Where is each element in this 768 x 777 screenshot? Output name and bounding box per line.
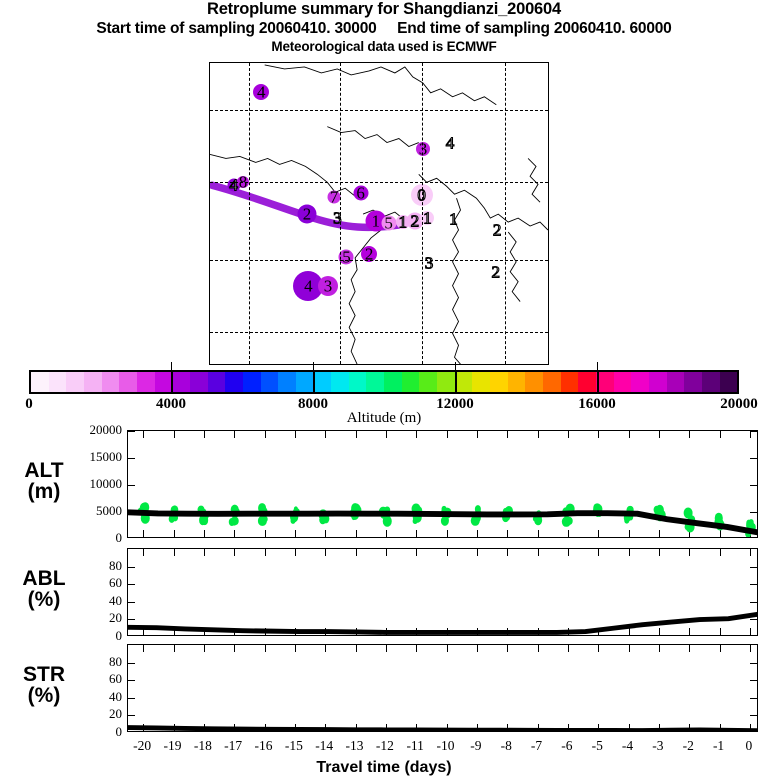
met-data-line: Meteorological data used is ECMWF: [0, 38, 768, 55]
colorbar-band: [119, 372, 137, 392]
panel-alt[interactable]: [127, 430, 758, 538]
colorbar-band: [667, 372, 685, 392]
xaxis-tick-label: -19: [164, 738, 182, 754]
panel-ylabel: 40: [109, 689, 122, 705]
xaxis-tick-label: -6: [561, 738, 572, 754]
xaxis-tick-label: -2: [683, 738, 694, 754]
sampling-time-line: Start time of sampling 20060410. 30000 E…: [0, 19, 768, 38]
panel-plot-area: [128, 645, 757, 731]
colorbar-band: [314, 372, 332, 392]
colorbar-band: [137, 372, 155, 392]
colorbar-band: [631, 372, 649, 392]
map-marker-label: 2: [411, 213, 420, 230]
xaxis-tick-label: -18: [194, 738, 212, 754]
colorbar-band: [720, 372, 738, 392]
map-marker-label: 5: [384, 215, 393, 232]
altitude-colorbar[interactable]: [29, 370, 739, 394]
xaxis-tick-label: -3: [652, 738, 663, 754]
colorbar-tick: [597, 362, 598, 370]
map-marker-label: 4: [446, 135, 455, 152]
xaxis-tick-label: -7: [531, 738, 542, 754]
colorbar-gradient: [29, 370, 739, 394]
panel-ylabel: 10000: [90, 476, 123, 492]
xaxis-tick-label: -5: [592, 738, 603, 754]
map-gridline-lat-3: [210, 332, 548, 333]
map-marker-label: 1: [423, 210, 432, 227]
colorbar-band: [278, 372, 296, 392]
colorbar-divider: [171, 370, 173, 394]
panel-ylabel: 80: [109, 558, 122, 574]
colorbar-band: [508, 372, 526, 392]
map-marker-label: 4: [304, 277, 313, 294]
colorbar-band: [84, 372, 102, 392]
panel-ylabel: 0: [116, 628, 123, 644]
xaxis-title: Travel time (days): [0, 759, 768, 777]
colorbar-band: [561, 372, 579, 392]
colorbar-band: [402, 372, 420, 392]
colorbar-band: [384, 372, 402, 392]
colorbar-band: [208, 372, 226, 392]
map-marker-label: 2: [492, 263, 501, 280]
panel-str[interactable]: [127, 644, 758, 732]
panel-ylabel: 60: [109, 575, 122, 591]
colorbar-divider: [455, 370, 457, 394]
map-canvas: 43448762301512112523243: [210, 63, 548, 364]
colorbar-band: [349, 372, 367, 392]
colorbar-band: [684, 372, 702, 392]
panel-axis-name-abl: ABL (%): [8, 568, 80, 610]
colorbar-band: [543, 372, 561, 392]
xaxis-tick-label: -20: [133, 738, 151, 754]
colorbar-band: [366, 372, 384, 392]
xaxis-tick-label: -9: [470, 738, 481, 754]
xaxis-tick-label: -13: [346, 738, 364, 754]
colorbar-band: [172, 372, 190, 392]
map-gridline-lon-1: [340, 63, 341, 364]
panel-axis-name-alt: ALT (m): [8, 460, 80, 502]
map-marker-label: 6: [356, 184, 365, 201]
map-marker-label: 1: [449, 211, 458, 228]
map-marker-label: 1: [372, 213, 381, 230]
panel-ylabel: 0: [116, 724, 123, 740]
panel-ylabel: 15000: [90, 449, 123, 465]
colorbar-band: [702, 372, 720, 392]
xaxis-tick-label: -11: [406, 738, 424, 754]
map-gridline-lat-1: [210, 182, 548, 183]
colorbar-band: [102, 372, 120, 392]
figure-header: Retroplume summary for Shangdianzi_20060…: [0, 0, 768, 55]
panel-ylabel: 20: [109, 706, 122, 722]
colorbar-band: [243, 372, 261, 392]
colorbar-band: [437, 372, 455, 392]
colorbar-tick: [455, 362, 456, 370]
panel-ylabel: 5000: [96, 503, 122, 519]
colorbar-band: [190, 372, 208, 392]
map-marker-label: 3: [425, 255, 434, 272]
panel-mean-line: [128, 431, 757, 537]
panel-ylabel: 0: [116, 530, 123, 546]
map-marker-label: 5: [342, 249, 351, 266]
xaxis-tick-label: -17: [224, 738, 242, 754]
panel-ylabel: 20000: [90, 422, 123, 438]
panel-ylabel: 40: [109, 593, 122, 609]
map-gridline-lat-2: [210, 260, 548, 261]
panel-mean-line: [128, 645, 757, 731]
colorbar-band: [614, 372, 632, 392]
map-marker-label: 7: [330, 188, 339, 205]
colorbar-divider: [597, 370, 599, 394]
retroplume-summary-figure: Retroplume summary for Shangdianzi_20060…: [0, 0, 768, 768]
panel-mean-line: [128, 549, 757, 635]
colorbar-band: [649, 372, 667, 392]
panel-abl[interactable]: [127, 548, 758, 636]
map-marker-label: 2: [493, 222, 502, 239]
xaxis-tick-label: -16: [255, 738, 273, 754]
panel-axis-name-str: STR (%): [8, 664, 80, 706]
colorbar-band: [472, 372, 490, 392]
map-marker-label: 3: [324, 277, 333, 294]
colorbar-band: [331, 372, 349, 392]
map-gridline-lon-2: [422, 63, 423, 364]
xaxis-tick-label: -4: [622, 738, 633, 754]
colorbar-band: [455, 372, 473, 392]
colorbar-band: [261, 372, 279, 392]
colorbar-band: [525, 372, 543, 392]
panel-plot-area: [128, 431, 757, 537]
xaxis-tick-label: -15: [285, 738, 303, 754]
colorbar-band: [225, 372, 243, 392]
colorbar-band: [31, 372, 49, 392]
panel-ylabel: 80: [109, 654, 122, 670]
panel-ylabel: 20: [109, 610, 122, 626]
colorbar-tick: [313, 362, 314, 370]
xaxis-tick-label: 0: [746, 738, 753, 754]
colorbar-band: [155, 372, 173, 392]
colorbar-band: [296, 372, 314, 392]
panel-ylabel: 60: [109, 671, 122, 687]
xaxis-tick-label: -10: [437, 738, 455, 754]
panel-plot-area: [128, 549, 757, 635]
colorbar-tick: [171, 362, 172, 370]
colorbar-divider: [313, 370, 315, 394]
page-title: Retroplume summary for Shangdianzi_20060…: [0, 0, 768, 19]
xaxis-tick-label: -12: [376, 738, 394, 754]
map-gridline-lon-0: [249, 63, 250, 364]
colorbar-band: [419, 372, 437, 392]
retroplume-map[interactable]: 43448762301512112523243: [209, 62, 549, 365]
colorbar-band: [490, 372, 508, 392]
xaxis-tick-label: -14: [315, 738, 333, 754]
colorbar-band: [49, 372, 67, 392]
map-marker-label: 4: [257, 83, 266, 100]
map-marker-label: 2: [303, 206, 312, 223]
xaxis-tick-label: -8: [501, 738, 512, 754]
xaxis-tick-label: -1: [713, 738, 724, 754]
map-gridline-lon-3: [505, 63, 506, 364]
map-gridline-lat-0: [210, 110, 548, 111]
colorbar-band: [66, 372, 84, 392]
colorbar-band: [578, 372, 596, 392]
